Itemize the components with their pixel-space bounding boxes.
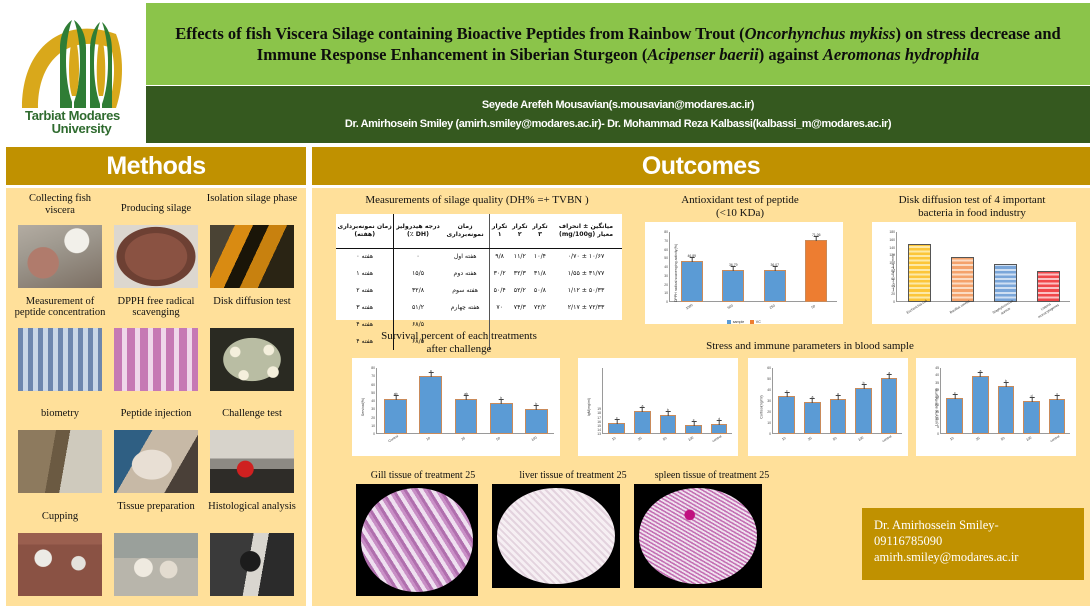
- table-row: ۱۰/۶۷ ± ۰/۷۰۱۰/۴۱۱/۲۹/۸هفته اول۰هفته ۰: [336, 248, 622, 265]
- bar-wrapper: 36.07: [764, 232, 786, 302]
- y-tick-label: 160: [878, 238, 895, 242]
- bar-wrapper: c: [778, 368, 795, 434]
- table-cell: هفته ۳: [336, 299, 394, 316]
- y-tick-label: 40: [922, 373, 939, 377]
- bar-wrapper: a: [804, 368, 821, 434]
- bar-wrapper: a: [972, 368, 989, 434]
- bar: a: [830, 399, 847, 434]
- error-bar: [691, 257, 692, 262]
- plot-area: cabcd: [604, 368, 732, 434]
- y-tick-label: 60: [651, 248, 668, 252]
- method-label: Histological analysis: [208, 500, 296, 533]
- table-cell: ۰: [394, 248, 442, 265]
- method-label: Disk diffusion test: [213, 295, 290, 328]
- bar-wrapper: b: [855, 368, 872, 434]
- method-item: biometry: [14, 397, 106, 500]
- table-row: ۷۲/۳۳ ± ۲/۱۷۷۲/۲۷۴/۳۷۰هفته چهارم۵۱/۲هفته…: [336, 299, 622, 316]
- methods-grid: Collecting fish visceraProducing silageI…: [14, 192, 298, 602]
- y-tick-label: 140: [878, 246, 895, 250]
- y-tick-label: 25: [922, 395, 939, 399]
- table-cell: ۷۲/۲: [530, 299, 550, 316]
- table-cell: ۱۱/۲: [510, 248, 530, 265]
- logo-line-2: University: [12, 122, 134, 136]
- method-label: biometry: [41, 397, 79, 430]
- disk-diffusion-chart-title: Disk diffusion test of 4 important bacte…: [858, 194, 1086, 220]
- poster-title-bar: Effects of fish Viscera Silage containin…: [146, 3, 1090, 85]
- table-col-header: زمان نمونه‌برداری: [442, 214, 489, 248]
- bar-wrapper: [951, 232, 973, 302]
- y-tick-label: 5: [922, 425, 939, 429]
- table-cell: ۵۰/۸: [530, 282, 550, 299]
- x-tick-label: control: [1044, 431, 1071, 455]
- method-item: Producing silage: [110, 192, 202, 295]
- y-tick-label: 17: [584, 416, 601, 420]
- table-cell: ۳۲/۳: [510, 265, 530, 282]
- y-tick-label: 40: [358, 399, 375, 403]
- table-cell: ۵۰/۳۳ ± ۱/۱۲: [550, 282, 622, 299]
- legend-entry: sample: [727, 320, 744, 324]
- method-item: Measurement of peptide concentration: [14, 295, 106, 398]
- table-cell: ۹/۸: [489, 248, 510, 265]
- plot-area: caaba: [774, 368, 902, 434]
- y-tick-label: 70: [651, 239, 668, 243]
- x-tick-label: 50: [825, 431, 852, 455]
- bar-wrapper: 46.89: [681, 232, 703, 302]
- method-item: Disk diffusion test: [206, 295, 298, 398]
- method-label: Isolation silage phase: [207, 192, 297, 225]
- legend-label: sample: [733, 320, 745, 324]
- antioxidant-title-line-2: (<10 KDa): [630, 207, 850, 220]
- error-bar: [395, 395, 396, 400]
- y-tick-label: 30: [358, 407, 375, 411]
- contact-phone: 09116785090: [874, 533, 1072, 549]
- section-header-methods: Methods: [6, 147, 306, 185]
- legend-swatch-icon: [750, 320, 754, 324]
- silage-quality-table: میانگین ± انحراف معیار (mg/100g)تکرار ۳ت…: [336, 214, 622, 320]
- y-tick-label: 120: [878, 253, 895, 257]
- lysozyme-plot: Lysozyme activity(u/ml)05101520253035404…: [916, 358, 1076, 456]
- poster-header: Tarbiat Modares University Effects of fi…: [0, 0, 1090, 145]
- error-bar: [787, 392, 788, 397]
- method-photo: [210, 328, 294, 391]
- table-cell: هفته دوم: [442, 265, 489, 282]
- histology-image-liver: [492, 484, 620, 588]
- bar-wrapper: c: [685, 368, 702, 434]
- bar: 71.06: [805, 240, 827, 302]
- bar: c: [1049, 399, 1066, 434]
- y-tick-label: 80: [651, 230, 668, 234]
- method-item: DPPH free radical scavenging: [110, 295, 202, 398]
- method-label: Cupping: [42, 500, 78, 533]
- x-tick-label: 25: [629, 431, 656, 455]
- bar-wrapper: d: [711, 368, 728, 434]
- bar-wrapper: ab: [455, 368, 478, 434]
- y-tick-label: 0: [651, 300, 668, 304]
- error-bar: [536, 405, 537, 410]
- diskdiff-title-line-1: Disk diffusion test of 4 important: [858, 194, 1086, 207]
- y-tick-label: 60: [878, 277, 895, 281]
- error-bar: [642, 407, 643, 412]
- x-tick-label: 25: [799, 431, 826, 455]
- table-cell: ۱۰/۶۷ ± ۰/۷۰: [550, 248, 622, 265]
- table-cell: ۳۰/۲: [489, 265, 510, 282]
- species-name-sturgeon: Acipenser baerii: [647, 45, 758, 64]
- bar-wrapper: [994, 232, 1016, 302]
- table-cell: هفته اول: [442, 248, 489, 265]
- y-tick-label: 60: [358, 383, 375, 387]
- survival-title-line-1: Survival percent of each treatments: [340, 330, 578, 343]
- bar-wrapper: a: [881, 368, 898, 434]
- antioxidant-chart: DPPH radical scavenging activity(%)01020…: [645, 222, 843, 324]
- bar-wrapper: a: [830, 368, 847, 434]
- y-tick-label: 10: [358, 424, 375, 428]
- method-photo: [18, 225, 102, 288]
- y-tick-label: 0: [878, 300, 895, 304]
- x-tick-label: control: [706, 431, 733, 455]
- y-tick-label: 80: [358, 366, 375, 370]
- y-tick-label: 0: [358, 432, 375, 436]
- species-name-pathogen: Aeromonas hydrophila: [823, 45, 979, 64]
- igm-chart: IgM(mg/ml)13141516171819cabcd102550100co…: [578, 358, 738, 456]
- contact-name: Dr. Amirhossein Smiley-: [874, 517, 1072, 533]
- legend-label: VC: [756, 320, 761, 324]
- x-tick-labels: Control102550100: [378, 436, 554, 450]
- plot-area: cabdc: [942, 368, 1070, 434]
- igm-plot: IgM(mg/ml)13141516171819cabcd102550100co…: [578, 358, 738, 456]
- x-tick-label: 10: [773, 431, 800, 455]
- table-cell: ۳۱/۸: [530, 265, 550, 282]
- methods-panel: Collecting fish visceraProducing silageI…: [6, 188, 306, 606]
- bar: a: [419, 376, 442, 434]
- logo-text: Tarbiat Modares University: [12, 109, 134, 136]
- bar: d: [1023, 401, 1040, 434]
- y-axis: [772, 368, 773, 434]
- y-tick-label: 50: [358, 391, 375, 395]
- error-bar: [838, 395, 839, 400]
- x-tick-label: 100: [1018, 431, 1045, 455]
- y-tick-label: 50: [754, 377, 771, 381]
- y-tick-label: 14: [584, 428, 601, 432]
- error-bar: [1057, 395, 1058, 400]
- table-head: میانگین ± انحراف معیار (mg/100g)تکرار ۳ت…: [336, 214, 622, 248]
- plot-area: 46.8936.7936.0771.06: [671, 232, 837, 302]
- method-label: DPPH free radical scavenging: [110, 295, 202, 328]
- bar-group: caaba: [774, 368, 902, 434]
- bar-wrapper: d: [1023, 368, 1040, 434]
- method-item: Histological analysis: [206, 500, 298, 603]
- error-bar: [889, 374, 890, 379]
- poster-root: Tarbiat Modares University Effects of fi…: [0, 0, 1090, 610]
- method-photo: [210, 533, 294, 596]
- y-tick-label: 10: [754, 421, 771, 425]
- table-cell: ۵۱/۲: [394, 299, 442, 316]
- method-photo: [18, 533, 102, 596]
- method-photo: [18, 430, 102, 493]
- contact-email: amirh.smiley@modares.ac.ir: [874, 549, 1072, 565]
- method-photo: [18, 328, 102, 391]
- bar: b: [998, 386, 1015, 434]
- table-header-row: میانگین ± انحراف معیار (mg/100g)تکرار ۳ت…: [336, 214, 622, 248]
- bar-group: cabdc: [942, 368, 1070, 434]
- table-cell: ۳۱/۷۷ ± ۱/۵۵: [550, 265, 622, 282]
- bar-wrapper: [908, 232, 930, 302]
- plot-area: [898, 232, 1070, 302]
- diskdiff-title-line-2: bacteria in food industry: [858, 207, 1086, 220]
- method-photo: [114, 328, 198, 391]
- y-tick-label: 180: [878, 230, 895, 234]
- x-tick-labels: 102550100control: [942, 436, 1070, 450]
- table-cell: هفته چهارم: [442, 299, 489, 316]
- error-bar: [719, 420, 720, 425]
- y-tick-label: 20: [878, 292, 895, 296]
- legend-swatch-icon: [727, 320, 731, 324]
- y-tick-label: 70: [358, 374, 375, 378]
- bar: a: [972, 376, 989, 434]
- bar: [908, 244, 930, 302]
- y-axis: [602, 368, 603, 434]
- section-title-outcomes: Outcomes: [642, 152, 760, 181]
- y-tick-label: 18: [584, 411, 601, 415]
- y-tick-label: 0: [754, 432, 771, 436]
- method-photo: [114, 225, 198, 288]
- page-title: Effects of fish Viscera Silage containin…: [146, 23, 1090, 65]
- y-tick-label: 35: [922, 381, 939, 385]
- method-item: Peptide injection: [110, 397, 202, 500]
- table-col-header: درجه هیدرولیز (DH ٪): [394, 214, 442, 248]
- error-bar: [812, 398, 813, 403]
- y-tick-label: 10: [651, 291, 668, 295]
- bar: c: [778, 396, 795, 435]
- y-tick-label: 30: [651, 274, 668, 278]
- error-bar: [430, 372, 431, 377]
- y-tick-label: 10: [922, 417, 939, 421]
- error-bar: [816, 236, 817, 241]
- y-axis: [940, 368, 941, 434]
- x-tick-label: 25: [967, 431, 994, 455]
- x-tick-label: 100: [680, 431, 707, 455]
- error-bar: [863, 384, 864, 389]
- table-col-header: تکرار ۱: [489, 214, 510, 248]
- table-cell: ۳۲/۸: [394, 282, 442, 299]
- bar-group: cabcd: [604, 368, 732, 434]
- table-cell: ۷۲/۳۳ ± ۲/۱۷: [550, 299, 622, 316]
- title-part-1: Effects of fish Viscera Silage containin…: [175, 24, 744, 43]
- method-label: Peptide injection: [121, 397, 192, 430]
- x-tick-labels: 102550100control: [604, 436, 732, 450]
- error-bar: [980, 372, 981, 377]
- bar-wrapper: 36.79: [722, 232, 744, 302]
- method-item: Cupping: [14, 500, 106, 603]
- x-tick-label: 10: [603, 431, 630, 455]
- error-bar: [1031, 397, 1032, 402]
- y-tick-label: 15: [584, 424, 601, 428]
- y-tick-label: 60: [754, 366, 771, 370]
- bar: 46.89: [681, 261, 703, 302]
- bar-wrapper: c: [946, 368, 963, 434]
- bar-wrapper: ab: [384, 368, 407, 434]
- author-line-2: Dr. Amirhosein Smiley (amirh.smiley@moda…: [345, 118, 891, 130]
- cortisol-plot: Cortisol(ng/ml)0102030405060caaba1025501…: [748, 358, 908, 456]
- bar: a: [804, 402, 821, 434]
- bar-group: [898, 232, 1070, 302]
- table-cell: هفته ۲: [336, 282, 394, 299]
- chart-legend: sampleVC: [645, 320, 843, 324]
- error-bar: [955, 394, 956, 399]
- survival-chart-title: Survival percent of each treatments afte…: [340, 330, 578, 356]
- y-tick-label: 40: [878, 284, 895, 288]
- x-tick-labels: 100050025050: [671, 304, 837, 318]
- antioxidant-chart-title: Antioxidant test of peptide (<10 KDa): [630, 194, 850, 220]
- x-tick-label: 50: [655, 431, 682, 455]
- table-row: ۳۱/۷۷ ± ۱/۵۵۳۱/۸۳۲/۳۳۰/۲هفته دوم۱۵/۵هفته…: [336, 265, 622, 282]
- table-cell: هفته ۱: [336, 265, 394, 282]
- survival-plot: Servival(%)01020304050607080abaabbbContr…: [352, 358, 560, 456]
- disk-diffusion-plot: قطر هاله عدم رشد (mm)0204060801001201401…: [872, 222, 1076, 324]
- bar: a: [881, 378, 898, 434]
- error-bar: [693, 421, 694, 426]
- silage-table-title: Measurements of silage quality (DH% =+ T…: [334, 194, 620, 207]
- y-tick-label: 19: [584, 407, 601, 411]
- bar-wrapper: b: [490, 368, 513, 434]
- bar: b: [855, 388, 872, 434]
- y-tick-label: 30: [754, 399, 771, 403]
- error-bar: [774, 266, 775, 271]
- antioxidant-title-line-1: Antioxidant test of peptide: [630, 194, 850, 207]
- histology-label-liver: liver tissue of treatment 25: [498, 470, 648, 481]
- university-logo: Tarbiat Modares University: [0, 0, 145, 145]
- bar-wrapper: a: [419, 368, 442, 434]
- table-col-header: تکرار ۲: [510, 214, 530, 248]
- stress-immune-section-title: Stress and immune parameters in blood sa…: [660, 340, 960, 353]
- method-photo: [114, 533, 198, 596]
- bar-wrapper: c: [608, 368, 625, 434]
- y-axis: [376, 368, 377, 434]
- bar-wrapper: a: [634, 368, 651, 434]
- error-bar: [466, 395, 467, 400]
- bar-group: abaabbb: [378, 368, 554, 434]
- bar: [951, 257, 973, 302]
- table-cell: هفته ۰: [336, 248, 394, 265]
- bar-wrapper: b: [998, 368, 1015, 434]
- disk-diffusion-chart: قطر هاله عدم رشد (mm)0204060801001201401…: [872, 222, 1076, 324]
- y-tick-label: 20: [651, 283, 668, 287]
- method-label: Tissue preparation: [117, 500, 194, 533]
- method-item: Collecting fish viscera: [14, 192, 106, 295]
- error-bar: [733, 266, 734, 271]
- bar-wrapper: b: [660, 368, 677, 434]
- bar-wrapper: c: [1049, 368, 1066, 434]
- table-cell: ۵۰/۴: [489, 282, 510, 299]
- histology-label-gill: Gill tissue of treatment 25: [348, 470, 498, 481]
- contact-box: Dr. Amirhossein Smiley- 09116785090 amir…: [862, 508, 1084, 580]
- x-tick-label: 10: [941, 431, 968, 455]
- y-tick-label: 45: [922, 366, 939, 370]
- table-row: ۵۰/۳۳ ± ۱/۱۲۵۰/۸۵۲/۲۵۰/۴هفته سوم۳۲/۸هفته…: [336, 282, 622, 299]
- y-tick-label: 20: [358, 416, 375, 420]
- title-part-3: ) against: [759, 45, 823, 64]
- histology-image-spleen: [634, 484, 762, 588]
- y-tick-label: 20: [754, 410, 771, 414]
- y-tick-label: 40: [651, 265, 668, 269]
- histology-label-spleen: spleen tissue of treatment 25: [632, 470, 792, 481]
- y-tick-label: 30: [922, 388, 939, 392]
- method-label: Challenge test: [222, 397, 282, 430]
- y-tick-label: 13: [584, 432, 601, 436]
- error-bar: [668, 411, 669, 416]
- table-cell: ۵۲/۲: [510, 282, 530, 299]
- method-label: Collecting fish viscera: [14, 192, 106, 225]
- author-line-1: Seyede Arefeh Mousavian(s.mousavian@moda…: [482, 99, 754, 111]
- bar: c: [946, 398, 963, 434]
- histology-image-gill: [356, 484, 478, 596]
- method-label: Producing silage: [121, 192, 191, 225]
- y-axis: [896, 232, 897, 302]
- tarbiat-modares-logo-icon: [12, 8, 134, 116]
- table-cell: ۱۰/۴: [530, 248, 550, 265]
- legend-entry: VC: [750, 320, 761, 324]
- method-photo: [114, 430, 198, 493]
- y-axis: [669, 232, 670, 302]
- y-tick-label: 100: [878, 261, 895, 265]
- lysozyme-chart: Lysozyme activity(u/ml)05101520253035404…: [916, 358, 1076, 456]
- table-cell: ۷۰: [489, 299, 510, 316]
- y-tick-label: 16: [584, 420, 601, 424]
- error-bar: [617, 419, 618, 424]
- bar-wrapper: [1037, 232, 1059, 302]
- bar-wrapper: b: [525, 368, 548, 434]
- y-tick-label: 50: [651, 256, 668, 260]
- x-tick-label: control: [876, 431, 903, 455]
- table-cell: ۱۵/۵: [394, 265, 442, 282]
- bar-wrapper: 71.06: [805, 232, 827, 302]
- y-tick-label: 40: [754, 388, 771, 392]
- y-tick-label: 20: [922, 403, 939, 407]
- method-item: Tissue preparation: [110, 500, 202, 603]
- method-photo: [210, 225, 294, 288]
- table-col-header: تکرار ۳: [530, 214, 550, 248]
- section-header-outcomes: Outcomes: [312, 147, 1090, 185]
- table-cell: ۷۴/۳: [510, 299, 530, 316]
- method-photo: [210, 430, 294, 493]
- error-bar: [1006, 382, 1007, 387]
- table-col-header: میانگین ± انحراف معیار (mg/100g): [550, 214, 622, 248]
- x-tick-label: 50: [993, 431, 1020, 455]
- cortisol-chart: Cortisol(ng/ml)0102030405060caaba1025501…: [748, 358, 908, 456]
- survival-title-line-2: after challenge: [340, 343, 578, 356]
- y-tick-label: 80: [878, 269, 895, 273]
- survival-chart: Servival(%)01020304050607080abaabbbContr…: [352, 358, 560, 456]
- table-cell: هفته سوم: [442, 282, 489, 299]
- y-tick-label: 0: [922, 432, 939, 436]
- table-col-header: زمان نمونه‌برداری (هفته): [336, 214, 394, 248]
- method-item: Isolation silage phase: [206, 192, 298, 295]
- antioxidant-plot: DPPH radical scavenging activity(%)01020…: [645, 222, 843, 324]
- bar-group: 46.8936.7936.0771.06: [671, 232, 837, 302]
- species-name-trout: Oncorhynchus mykiss: [745, 24, 896, 43]
- method-item: Challenge test: [206, 397, 298, 500]
- x-tick-labels: 102550100control: [774, 436, 902, 450]
- y-tick-label: 15: [922, 410, 939, 414]
- plot-area: abaabbb: [378, 368, 554, 434]
- section-title-methods: Methods: [106, 152, 205, 181]
- x-tick-labels: Escherichia coliBacillus cereusStaphyloc…: [898, 304, 1070, 318]
- authors-bar: Seyede Arefeh Mousavian(s.mousavian@moda…: [146, 86, 1090, 143]
- method-label: Measurement of peptide concentration: [14, 295, 106, 328]
- error-bar: [501, 399, 502, 404]
- x-tick-label: 100: [850, 431, 877, 455]
